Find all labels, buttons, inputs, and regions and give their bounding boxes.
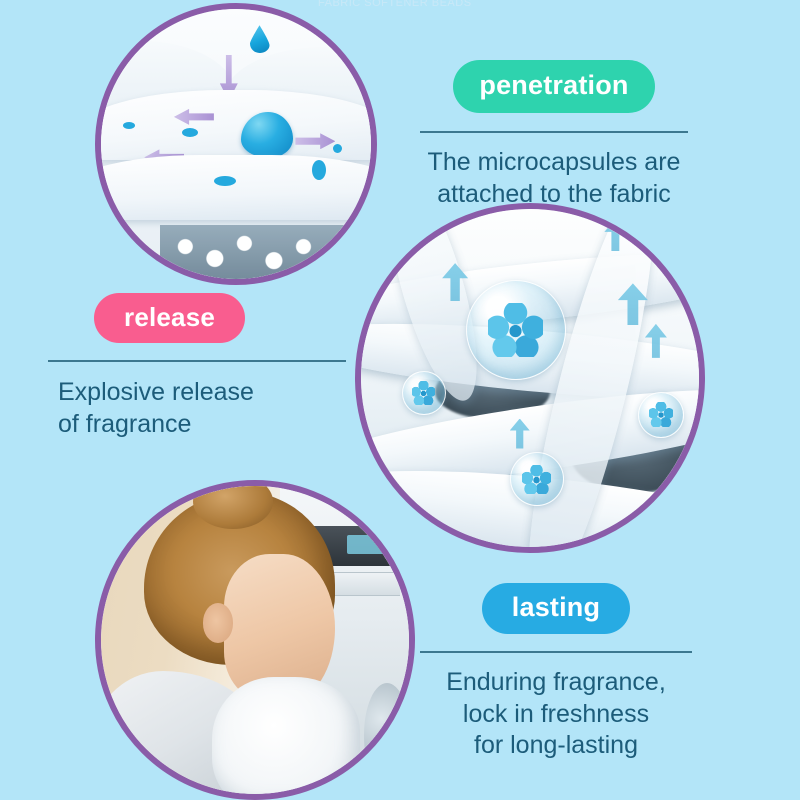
woven-fabric-scene [361, 209, 699, 547]
fragrance-microcapsule-bubble [402, 371, 446, 415]
product-infographic-poster: FABRIC SOFTENER BEADS [0, 0, 800, 800]
fragrance-flower-icon [522, 465, 551, 494]
penetration-illustration-circle [95, 3, 377, 285]
woman-smelling-laundry-scene [101, 486, 409, 794]
fabric-top-sheet [101, 90, 371, 160]
release-divider [48, 360, 346, 362]
penetration-divider [420, 131, 688, 133]
badge-lasting: lasting [482, 583, 630, 634]
washing-machine-display [347, 535, 387, 553]
washing-machine-door [364, 683, 409, 788]
release-text-block: release Explosive release of fragrance [48, 293, 346, 440]
splash-drop [182, 128, 198, 137]
release-caption: Explosive release of fragrance [48, 377, 346, 440]
fiber-strands-band [160, 225, 371, 279]
fragrance-flower-icon [488, 303, 543, 358]
lasting-photo-circle [95, 480, 415, 800]
fabric-layers-scene [101, 9, 371, 279]
fragrance-flower-icon [649, 402, 674, 427]
fabric-mid-sheet [101, 155, 371, 220]
lasting-divider [420, 651, 692, 653]
fragrance-microcapsule-bubble-large [466, 280, 566, 380]
badge-penetration: penetration [453, 60, 654, 113]
penetration-text-block: penetration The microcapsules are attach… [420, 60, 688, 210]
splash-streak [312, 160, 326, 180]
fragrance-flower-icon [412, 381, 436, 405]
fragrance-microcapsule-bubble [638, 392, 684, 438]
penetration-caption: The microcapsules are attached to the fa… [420, 147, 688, 210]
white-towel [212, 677, 360, 794]
fragrance-microcapsule-bubble [510, 452, 564, 506]
watermark-text: FABRIC SOFTENER BEADS [318, 0, 472, 9]
lasting-caption: Enduring fragrance, lock in freshness fo… [420, 667, 692, 762]
lasting-text-block: lasting Enduring fragrance, lock in fres… [420, 583, 692, 762]
badge-release: release [94, 293, 245, 343]
